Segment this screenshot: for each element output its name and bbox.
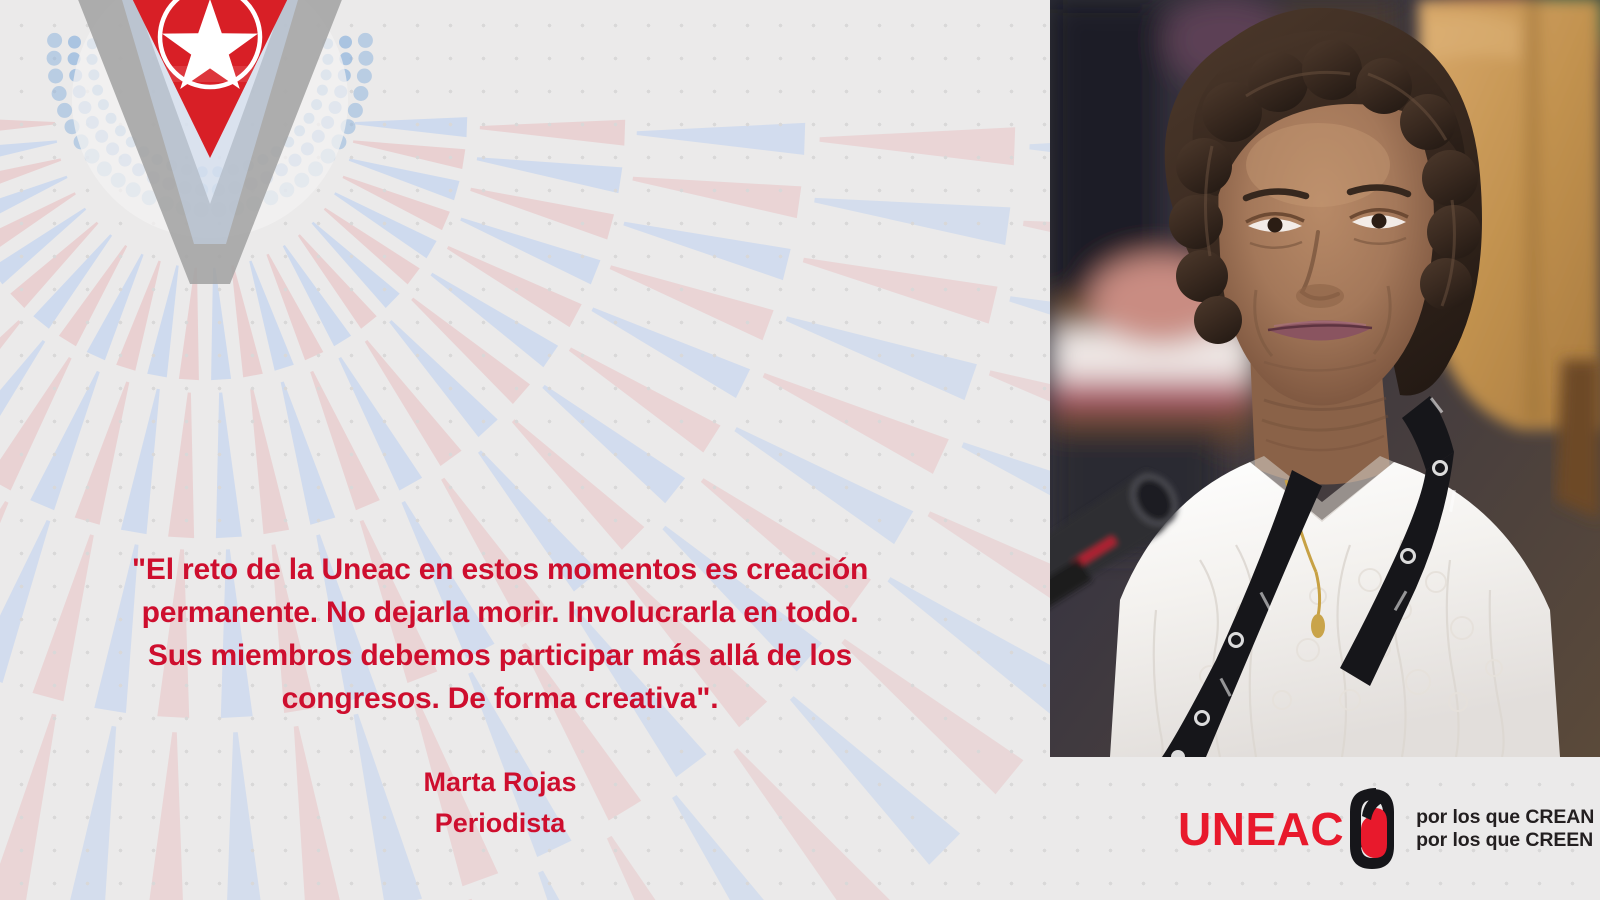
slide-canvas: "El reto de la Uneac en estos momentos e… [0,0,1600,900]
uneac-logo-strip: UNEAC por los que CREAN por los que CREE… [1050,757,1600,900]
uneac-wordmark: UNEAC [1178,806,1344,852]
portrait-photo [1050,0,1600,757]
attribution: Marta Rojas Periodista [40,762,960,844]
quote-block: "El reto de la Uneac en estos momentos e… [40,548,960,844]
tagline-line-2: por los que CREEN [1416,829,1594,852]
author-role: Periodista [40,803,960,844]
author-name: Marta Rojas [40,762,960,803]
uneac-tagline: por los que CREAN por los que CREEN [1416,806,1594,852]
cuban-star-triangle-emblem [0,0,420,324]
uneac-emblem-icon [1342,786,1404,872]
quote-text: "El reto de la Uneac en estos momentos e… [40,548,960,720]
tagline-line-1: por los que CREAN [1416,806,1594,829]
